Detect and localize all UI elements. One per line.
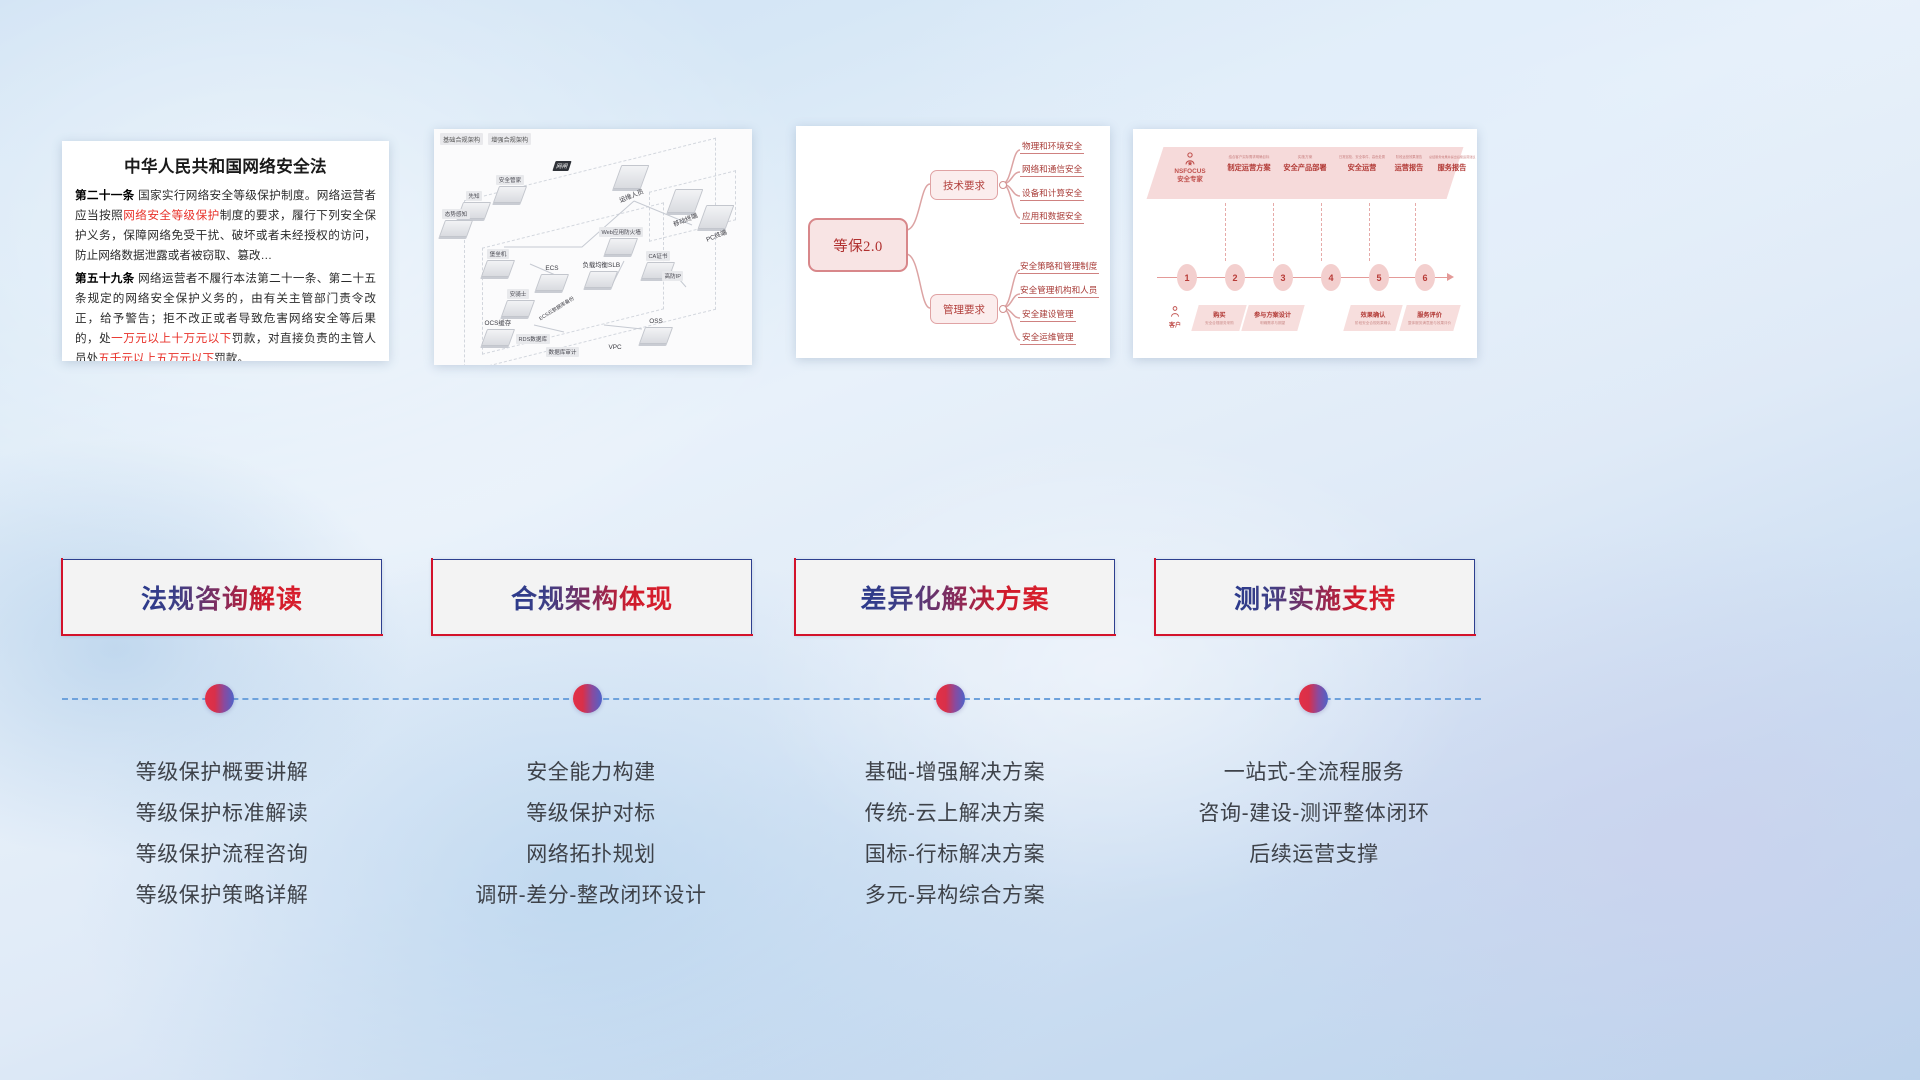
node-waf: Web应用防火墙 bbox=[599, 227, 643, 255]
device-chip-icon bbox=[698, 205, 735, 229]
node-anti-ddos-ip: 高防IP bbox=[662, 271, 683, 281]
architecture-diagram: 基础合规架构 增强合规架构 网闸 bbox=[434, 129, 752, 365]
detail-item: 基础-增强解决方案 bbox=[790, 752, 1120, 793]
step-connector bbox=[1415, 203, 1417, 261]
node-mobile-terminal: 移动终端 bbox=[670, 189, 701, 225]
step-connector bbox=[1321, 203, 1323, 261]
detail-item: 一站式-全流程服务 bbox=[1149, 752, 1479, 793]
step-sub: 结合客户实际需求明确目标 bbox=[1221, 155, 1277, 160]
node-pc-terminal: PC终端 bbox=[702, 205, 730, 241]
heading-label: 法规咨询解读 bbox=[141, 579, 303, 616]
step-number-bubble: 4 bbox=[1321, 264, 1341, 291]
step-name: 安全运营 bbox=[1331, 163, 1393, 173]
mindmap-leaf: 安全运维管理 bbox=[1020, 331, 1076, 345]
server-chip-icon bbox=[481, 329, 515, 346]
nsfocus-diagram: NSFOCUS 安全专家 结合客户实际需求明确目标 制定运营方案 实施方案 安全… bbox=[1133, 129, 1477, 358]
legal-text-body: 中华人民共和国网络安全法 第二十一条 国家实行网络安全等级保护制度。网络运营者应… bbox=[62, 141, 389, 361]
mindmap-leaf: 物理和环境安全 bbox=[1020, 140, 1084, 154]
step-sub: 日常巡检、安全事件、高危处置 bbox=[1331, 155, 1393, 160]
server-chip-icon bbox=[481, 260, 515, 277]
legal-seg-highlight: 一万元以上十万元以下 bbox=[111, 332, 232, 345]
step-number-bubble: 5 bbox=[1369, 264, 1389, 291]
timeline-dashed-line bbox=[62, 698, 1481, 700]
step-sub: 总结服务效果并提出后续运营建议 bbox=[1429, 155, 1475, 160]
node-anqishi: 安骑士 bbox=[504, 289, 532, 317]
node-oss: OSS bbox=[642, 317, 670, 344]
detail-item: 网络拓扑规划 bbox=[426, 834, 756, 875]
server-chip-icon bbox=[584, 271, 618, 288]
legal-paragraph-59: 第五十九条 网络运营者不履行本法第二十一条、第二十五条规定的网络安全保护义务的，… bbox=[75, 269, 376, 361]
article-number-59: 第五十九条 bbox=[75, 272, 135, 285]
customer-label: 客户 bbox=[1155, 305, 1195, 329]
node-ocs-cache: OCS缓存 bbox=[482, 317, 514, 346]
step-number-bubble: 1 bbox=[1177, 264, 1197, 291]
legal-seg: 罚款。 bbox=[214, 352, 249, 361]
node-rds-database: RDS数据库 bbox=[516, 334, 550, 344]
device-chip-icon bbox=[667, 189, 704, 213]
heading-label: 合规架构体现 bbox=[511, 579, 673, 616]
mindmap-branch-technical: 技术要求 bbox=[930, 170, 998, 200]
customer-tag: 参与方案设计 明确需求与期望 bbox=[1241, 305, 1304, 331]
heading-box-compliance-architecture[interactable]: 合规架构体现 bbox=[432, 559, 752, 635]
customer-tag: 购买 安全合规服务采购 bbox=[1191, 305, 1246, 331]
node-label: 态势感知 bbox=[442, 209, 469, 219]
node-slb: 负载均衡SLB bbox=[580, 259, 623, 288]
mindmap-branch-management: 管理要求 bbox=[930, 294, 998, 324]
server-chip-icon bbox=[501, 300, 535, 317]
tag-title: 参与方案设计 bbox=[1254, 310, 1291, 319]
expert-name: NSFOCUS bbox=[1165, 168, 1215, 176]
legal-seg-highlight: 网络安全等级保护 bbox=[123, 209, 219, 222]
detail-item: 国标-行标解决方案 bbox=[790, 834, 1120, 875]
step-connector bbox=[1369, 203, 1371, 261]
timeline-dot-4[interactable] bbox=[1299, 684, 1328, 713]
detail-column-3: 基础-增强解决方案 传统-云上解决方案 国标-行标解决方案 多元-异构综合方案 bbox=[790, 752, 1120, 916]
process-axis bbox=[1157, 277, 1449, 278]
legal-law-card: 中华人民共和国网络安全法 第二十一条 国家实行网络安全等级保护制度。网络运营者应… bbox=[62, 141, 389, 361]
process-step: 日常巡检、安全事件、高危处置 安全运营 bbox=[1331, 155, 1393, 173]
server-chip-icon bbox=[535, 274, 569, 291]
step-sub: 实施方案 bbox=[1279, 155, 1331, 160]
tag-inner: 效果确认 阶段安全合规效果确认 bbox=[1355, 310, 1391, 326]
timeline-dot-3[interactable] bbox=[936, 684, 965, 713]
server-chip-icon bbox=[493, 186, 527, 203]
node-label: Web应用防火墙 bbox=[599, 227, 643, 237]
step-connector bbox=[1225, 203, 1227, 261]
process-step: 结合客户实际需求明确目标 制定运营方案 bbox=[1221, 155, 1277, 173]
node-label: RDS数据库 bbox=[516, 334, 550, 344]
tag-sub: 安全合规服务采购 bbox=[1205, 321, 1234, 326]
customer-text: 客户 bbox=[1169, 323, 1181, 329]
node-ops-staff: 运维人员 bbox=[616, 165, 647, 201]
detail-item: 多元-异构综合方案 bbox=[790, 875, 1120, 916]
step-number-bubble: 2 bbox=[1225, 264, 1245, 291]
customer-tag: 效果确认 阶段安全合规效果确认 bbox=[1343, 305, 1402, 331]
node-label: 堡垒机 bbox=[487, 249, 509, 259]
node-label: 安全管家 bbox=[496, 175, 523, 185]
node-label: 高防IP bbox=[662, 271, 683, 281]
heading-box-regulation-consulting[interactable]: 法规咨询解读 bbox=[62, 559, 382, 635]
server-chip-icon bbox=[639, 327, 673, 344]
tag-inner: 参与方案设计 明确需求与期望 bbox=[1254, 310, 1291, 326]
article-number-21: 第二十一条 bbox=[75, 189, 135, 202]
detail-item: 等级保护概要讲解 bbox=[57, 752, 387, 793]
node-security-housekeeper: 安全管家 bbox=[496, 175, 524, 203]
detail-item: 后续运营支撑 bbox=[1149, 834, 1479, 875]
mindmap-leaf: 安全策略和管理制度 bbox=[1018, 260, 1099, 274]
node-gateway: 网闸 bbox=[554, 161, 570, 171]
detail-column-4: 一站式-全流程服务 咨询-建设-测评整体闭环 后续运营支撑 bbox=[1149, 752, 1479, 875]
timeline-dot-1[interactable] bbox=[205, 684, 234, 713]
node-situational-awareness: 态势感知 bbox=[442, 209, 470, 237]
person-chip-icon bbox=[613, 165, 650, 189]
node-label: 网闸 bbox=[552, 161, 571, 171]
slide-stage: 中华人民共和国网络安全法 第二十一条 国家实行网络安全等级保护制度。网络运营者应… bbox=[0, 0, 1920, 1080]
legal-paragraph-21: 第二十一条 国家实行网络安全等级保护制度。网络运营者应当按照网络安全等级保护制度… bbox=[75, 186, 376, 266]
tag-sub: 阶段安全合规效果确认 bbox=[1355, 321, 1391, 326]
mindmap-leaf: 网络和通信安全 bbox=[1020, 163, 1084, 177]
expert-role: 安全专家 bbox=[1165, 176, 1215, 184]
customer-person-icon bbox=[1168, 305, 1182, 319]
step-name: 服务报告 bbox=[1429, 163, 1475, 173]
nsfocus-expert-label: NSFOCUS 安全专家 bbox=[1165, 151, 1215, 184]
tag-title: 购买 bbox=[1205, 310, 1234, 319]
node-label: CA证书 bbox=[646, 251, 670, 261]
tag-title: 服务评价 bbox=[1408, 310, 1451, 319]
mindmap-root-node: 等保2.0 bbox=[808, 218, 908, 272]
node-label: ECS bbox=[543, 264, 561, 273]
detail-item: 调研-差分-整改闭环设计 bbox=[426, 875, 756, 916]
tag-inner: 服务评价 整体服务满意度与效果评价 bbox=[1408, 310, 1451, 326]
heading-box-differentiated-solution[interactable]: 差异化解决方案 bbox=[795, 559, 1115, 635]
mindmap-card: 等保2.0 技术要求 物理和环境安全 网络和通信安全 设备和计算安全 应用和数据… bbox=[796, 126, 1110, 358]
tag-inner: 购买 安全合规服务采购 bbox=[1205, 310, 1234, 326]
mindmap-collapse-knob[interactable] bbox=[999, 181, 1007, 189]
legal-card-title: 中华人民共和国网络安全法 bbox=[75, 153, 376, 177]
step-number-bubble: 3 bbox=[1273, 264, 1293, 291]
node-label: VPC bbox=[606, 343, 624, 352]
tag-sub: 整体服务满意度与效果评价 bbox=[1408, 321, 1451, 326]
expert-person-icon bbox=[1182, 151, 1198, 167]
heading-label: 差异化解决方案 bbox=[860, 579, 1049, 616]
process-step: 阶段运营效果报告 运营报告 bbox=[1385, 155, 1433, 173]
mindmap-leaf: 应用和数据安全 bbox=[1020, 210, 1084, 224]
mindmap-leaf: 安全建设管理 bbox=[1020, 308, 1076, 322]
node-ecs: ECS bbox=[538, 264, 566, 291]
step-number-bubble: 6 bbox=[1415, 264, 1435, 291]
heading-label: 测评实施支持 bbox=[1234, 579, 1396, 616]
detail-item: 等级保护对标 bbox=[426, 793, 756, 834]
detail-column-1: 等级保护概要讲解 等级保护标准解读 等级保护流程咨询 等级保护策略详解 bbox=[57, 752, 387, 916]
node-label: 先知 bbox=[466, 191, 482, 201]
step-name: 运营报告 bbox=[1385, 163, 1433, 173]
server-chip-icon bbox=[439, 220, 473, 237]
detail-column-2: 安全能力构建 等级保护对标 网络拓扑规划 调研-差分-整改闭环设计 bbox=[426, 752, 756, 916]
mindmap-leaf: 设备和计算安全 bbox=[1020, 187, 1084, 201]
node-vpc: VPC bbox=[606, 343, 624, 352]
detail-item: 安全能力构建 bbox=[426, 752, 756, 793]
node-database-audit: 数据库审计 bbox=[546, 347, 579, 357]
step-name: 安全产品部署 bbox=[1279, 163, 1331, 173]
detail-item: 等级保护策略详解 bbox=[57, 875, 387, 916]
mindmap-diagram: 等保2.0 技术要求 物理和环境安全 网络和通信安全 设备和计算安全 应用和数据… bbox=[796, 126, 1110, 358]
step-connector bbox=[1273, 203, 1275, 261]
timeline-dot-2[interactable] bbox=[573, 684, 602, 713]
process-axis-arrow-icon bbox=[1447, 273, 1454, 281]
process-step: 实施方案 安全产品部署 bbox=[1279, 155, 1331, 173]
tag-sub: 明确需求与期望 bbox=[1254, 321, 1291, 326]
node-label: 安骑士 bbox=[507, 289, 529, 299]
node-bastion-host: 堡垒机 bbox=[484, 249, 512, 277]
heading-box-assessment-support[interactable]: 测评实施支持 bbox=[1155, 559, 1475, 635]
step-name: 制定运营方案 bbox=[1221, 163, 1277, 173]
nsfocus-process-card: NSFOCUS 安全专家 结合客户实际需求明确目标 制定运营方案 实施方案 安全… bbox=[1133, 129, 1477, 358]
node-label: OCS缓存 bbox=[482, 317, 514, 328]
step-sub: 阶段运营效果报告 bbox=[1385, 155, 1433, 160]
legal-seg-highlight: 五千元以上五万元以下 bbox=[98, 352, 214, 361]
detail-item: 等级保护流程咨询 bbox=[57, 834, 387, 875]
node-label: OSS bbox=[647, 317, 666, 326]
node-label: 负载均衡SLB bbox=[580, 259, 623, 270]
node-label: 数据库审计 bbox=[546, 347, 579, 357]
server-chip-icon bbox=[604, 238, 638, 255]
mindmap-leaf: 安全管理机构和人员 bbox=[1018, 284, 1099, 298]
detail-item: 等级保护标准解读 bbox=[57, 793, 387, 834]
process-step: 总结服务效果并提出后续运营建议 服务报告 bbox=[1429, 155, 1475, 173]
tag-title: 效果确认 bbox=[1355, 310, 1391, 319]
detail-item: 咨询-建设-测评整体闭环 bbox=[1149, 793, 1479, 834]
customer-tag: 服务评价 整体服务满意度与效果评价 bbox=[1399, 305, 1460, 331]
mindmap-collapse-knob[interactable] bbox=[999, 305, 1007, 313]
cloud-architecture-card: 基础合规架构 增强合规架构 网闸 bbox=[434, 129, 752, 365]
detail-item: 传统-云上解决方案 bbox=[790, 793, 1120, 834]
